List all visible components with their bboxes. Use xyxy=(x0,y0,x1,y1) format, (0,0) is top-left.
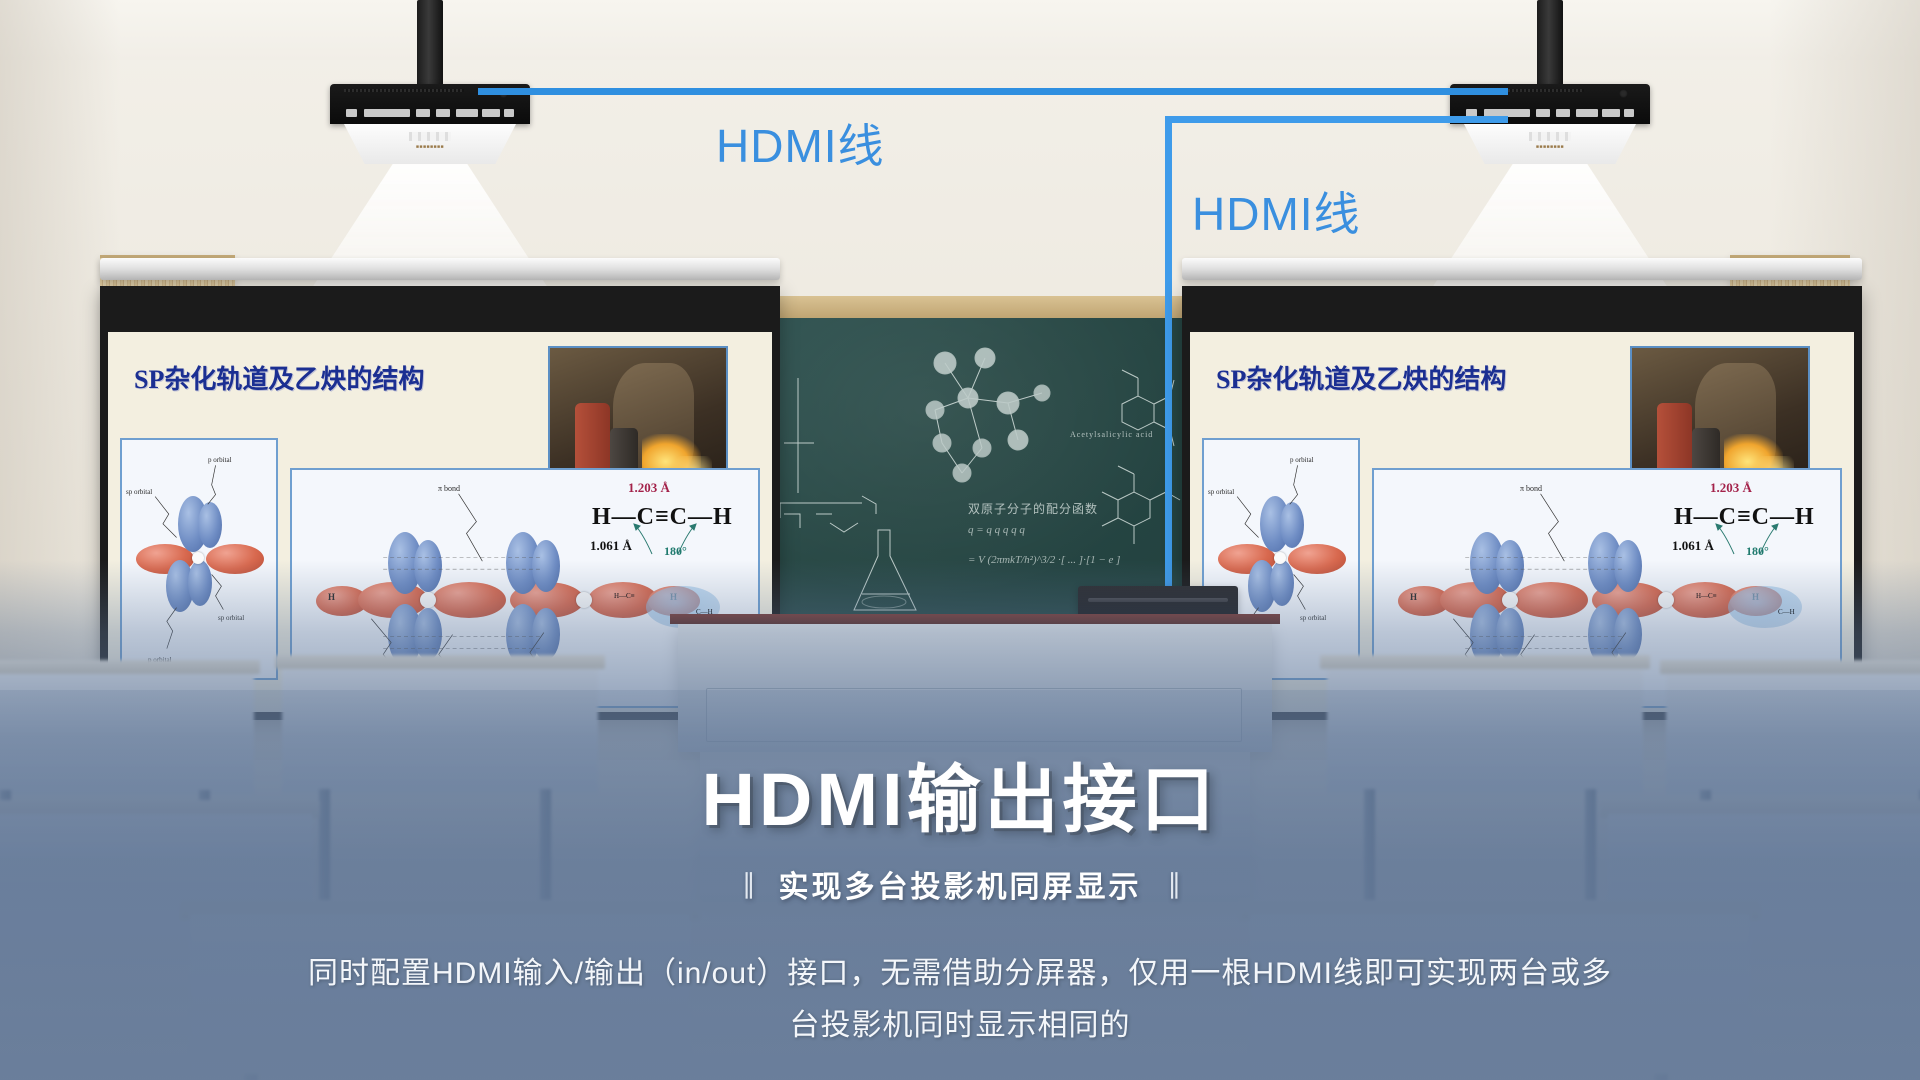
port-row-left xyxy=(346,106,514,119)
speaker-grille-right xyxy=(1529,132,1571,141)
port-lan-right xyxy=(1602,109,1620,117)
vent-grille-left xyxy=(344,89,464,92)
scene-root: 双原子分子的配分函数 Acetylsalicylic acid q = q q … xyxy=(0,0,1920,1080)
port-lan-left xyxy=(482,109,500,117)
projector-brand-left: ■■■■■■■■ xyxy=(344,144,516,150)
port-hdmi-out-left xyxy=(436,109,450,117)
hdmi-cable-vertical-drop xyxy=(1165,116,1172,594)
bond-length-top-right: 1.203 Å xyxy=(1710,480,1752,496)
slide-title-left: SP杂化轨道及乙炔的结构 xyxy=(134,359,424,396)
hdmi-cable-label-right: HDMI线 xyxy=(1192,178,1361,244)
projector-body-bottom-left: ■■■■■■■■ xyxy=(344,124,516,164)
speaker-grille-left xyxy=(409,132,451,141)
ceiling xyxy=(0,0,1920,60)
port-hdmi-in-left xyxy=(416,109,430,117)
port-hdmi-out-right xyxy=(1556,109,1570,117)
divider-mark-left: ∥ xyxy=(742,869,753,900)
hdmi-cable-top-horizontal xyxy=(478,88,1508,95)
chalkboard-caption: 双原子分子的配分函数 xyxy=(968,500,1098,517)
hdmi-cable-second-horizontal xyxy=(1165,116,1508,123)
slide-title-right: SP杂化轨道及乙炔的结构 xyxy=(1216,359,1506,396)
page-subline: ∥ 实现多台投影机同屏显示 ∥ xyxy=(0,862,1920,906)
subline-text: 实现多台投影机同屏显示 xyxy=(779,862,1142,906)
divider-mark-right: ∥ xyxy=(1168,869,1179,900)
projector-body-bottom-right: ■■■■■■■■ xyxy=(1464,124,1636,164)
port-audio-left xyxy=(456,109,478,117)
ceiling-mount-pole-left xyxy=(417,0,443,88)
port-audio-right xyxy=(1576,109,1598,117)
page-headline: HDMI输出接口 xyxy=(0,740,1920,847)
page-body-line-1: 同时配置HDMI输入/输出（in/out）接口，无需借助分屏器，仅用一根HDMI… xyxy=(0,948,1920,1000)
port-power-right xyxy=(1624,109,1634,117)
sensor-dot-right xyxy=(1619,89,1628,98)
port-usb-left xyxy=(346,109,357,117)
ceiling-mount-pole-right xyxy=(1537,0,1563,88)
screen-roller-housing-left xyxy=(100,258,780,280)
chalkboard-side-label: Acetylsalicylic acid xyxy=(1070,430,1153,439)
hdmi-cable-label-left: HDMI线 xyxy=(716,110,885,176)
port-vga-left xyxy=(364,109,410,117)
page-body-line-2: 台投影机同时显示相同的 xyxy=(0,1000,1920,1052)
chalkboard-formula-1: q = q q q q q xyxy=(968,524,1025,536)
chalkboard-frame xyxy=(770,296,1210,318)
port-power-left xyxy=(504,109,514,117)
screen-roller-housing-right xyxy=(1182,258,1862,280)
projector-brand-right: ■■■■■■■■ xyxy=(1464,144,1636,150)
port-hdmi-in-right xyxy=(1536,109,1550,117)
bond-length-top-left: 1.203 Å xyxy=(628,480,670,496)
